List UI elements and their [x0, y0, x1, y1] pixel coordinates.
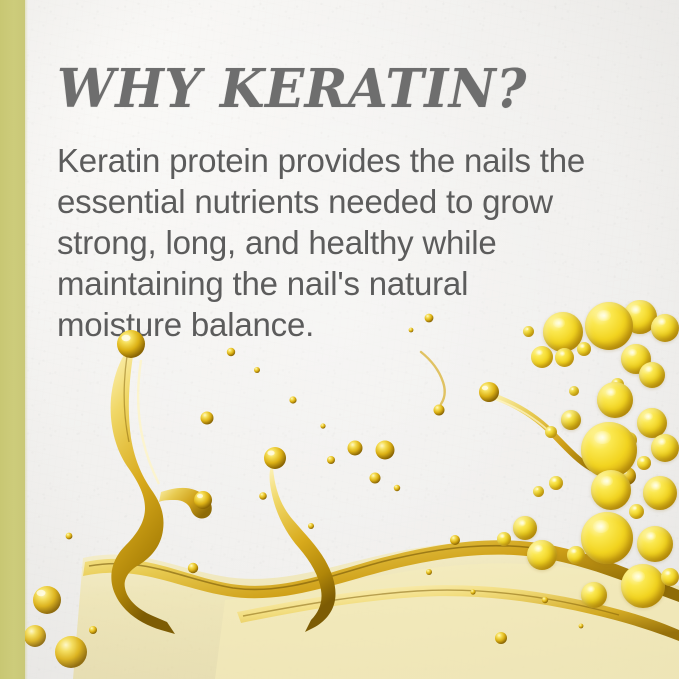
page-title: WHY KERATIN? [57, 60, 639, 118]
oil-strand-right [479, 382, 636, 485]
marketing-infographic-canvas: WHY KERATIN? Keratin protein provides th… [0, 0, 679, 679]
body-line: Keratin protein provides the nails the [57, 140, 657, 181]
oil-splash-arm-side [159, 488, 212, 519]
oil-splash-svg [25, 300, 679, 679]
body-line: essential nutrients needed to grow [57, 181, 657, 222]
body-line: strong, long, and healthy while [57, 222, 657, 263]
oil-filament [421, 352, 445, 416]
oil-splash-artwork [25, 300, 679, 679]
body-line: maintaining the nail's natural [57, 263, 657, 304]
left-accent-stripe [0, 0, 25, 679]
